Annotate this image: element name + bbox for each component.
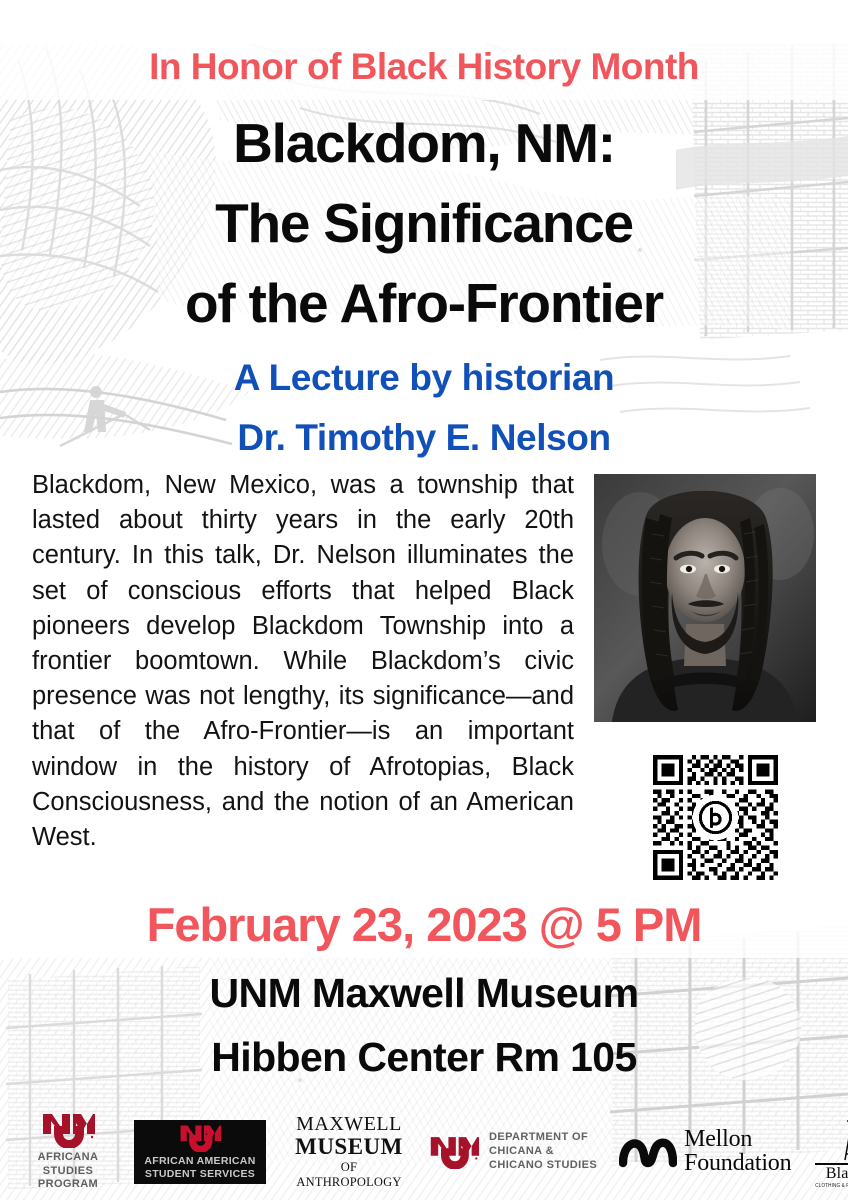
blackdom-b-windmill-icon: B [829, 1116, 848, 1162]
chicana-caption: DEPARTMENT OF CHICANA & CHICANO STUDIES [489, 1131, 597, 1172]
africana-line-1: AFRICANA [16, 1151, 120, 1164]
logo-african-american-student-services: AFRICAN AMERICAN STUDENT SERVICES [134, 1120, 266, 1184]
aass-line-1: AFRICAN AMERICAN [144, 1155, 255, 1168]
logo-maxwell-museum: MAXWELL MUSEUM OF ANTHROPOLOGY [288, 1114, 410, 1189]
blackdom-name: Blackdom [813, 1166, 848, 1183]
chicana-line-1: DEPARTMENT OF [489, 1131, 597, 1145]
unm-interlocking-nm-icon [40, 1112, 96, 1148]
logo-unm-africana-studies: AFRICANA STUDIES PROGRAM [16, 1112, 120, 1191]
aass-line-2: STUDENT SERVICES [144, 1168, 255, 1181]
venue-line-2: Hibben Center Rm 105 [0, 1026, 848, 1090]
maxwell-line-3: OF ANTHROPOLOGY [288, 1160, 410, 1190]
africana-caption: AFRICANA STUDIES PROGRAM [16, 1151, 120, 1191]
subtitle-line-2: Dr. Timothy E. Nelson [0, 408, 848, 468]
title-line-1: Blackdom, NM: [0, 104, 848, 184]
blackdom-tagline: CLOTHING & PRODUCTIONS LTD. CO. [813, 1182, 848, 1188]
chicana-line-3: CHICANO STUDIES [489, 1159, 597, 1173]
event-venue: UNM Maxwell Museum Hibben Center Rm 105 [0, 962, 848, 1089]
unm-interlocking-nm-icon [428, 1135, 480, 1169]
subtitle-line-1: A Lecture by historian [0, 348, 848, 408]
venue-line-1: UNM Maxwell Museum [0, 962, 848, 1026]
page-title: Blackdom, NM: The Significance of the Af… [0, 104, 848, 343]
title-line-2: The Significance [0, 184, 848, 264]
logo-chicana-chicano-studies: DEPARTMENT OF CHICANA & CHICANO STUDIES [428, 1131, 597, 1172]
mellon-line-2: Foundation [684, 1152, 791, 1176]
unm-interlocking-nm-icon [178, 1124, 222, 1152]
africana-line-2: STUDIES [16, 1165, 120, 1178]
qr-code[interactable] [653, 755, 778, 880]
aass-caption: AFRICAN AMERICAN STUDENT SERVICES [144, 1155, 255, 1180]
mellon-line-1: Mellon [684, 1128, 791, 1152]
maxwell-line-1: MAXWELL [288, 1114, 410, 1135]
logo-blackdom-clothing: B Blackdom CLOTHING & PRODUCTIONS LTD. C… [813, 1116, 848, 1188]
chicana-line-2: CHICANA & [489, 1145, 597, 1159]
sponsor-logo-bar: AFRICANA STUDIES PROGRAM AFRICAN AMERICA… [0, 1104, 848, 1200]
subtitle-speaker: A Lecture by historian Dr. Timothy E. Ne… [0, 348, 848, 468]
kicker-black-history-month: In Honor of Black History Month [0, 48, 848, 87]
maxwell-line-2: MUSEUM [288, 1135, 410, 1159]
event-date-time: February 23, 2023 @ 5 PM [0, 897, 848, 952]
mellon-squiggle-icon [619, 1133, 677, 1171]
logo-mellon-foundation: Mellon Foundation [619, 1128, 791, 1175]
abstract-paragraph: Blackdom, New Mexico, was a township tha… [32, 468, 574, 855]
africana-line-3: PROGRAM [16, 1178, 120, 1191]
poster: In Honor of Black History Month Blackdom… [0, 0, 848, 1200]
title-line-3: of the Afro-Frontier [0, 264, 848, 344]
speaker-portrait [594, 474, 816, 722]
